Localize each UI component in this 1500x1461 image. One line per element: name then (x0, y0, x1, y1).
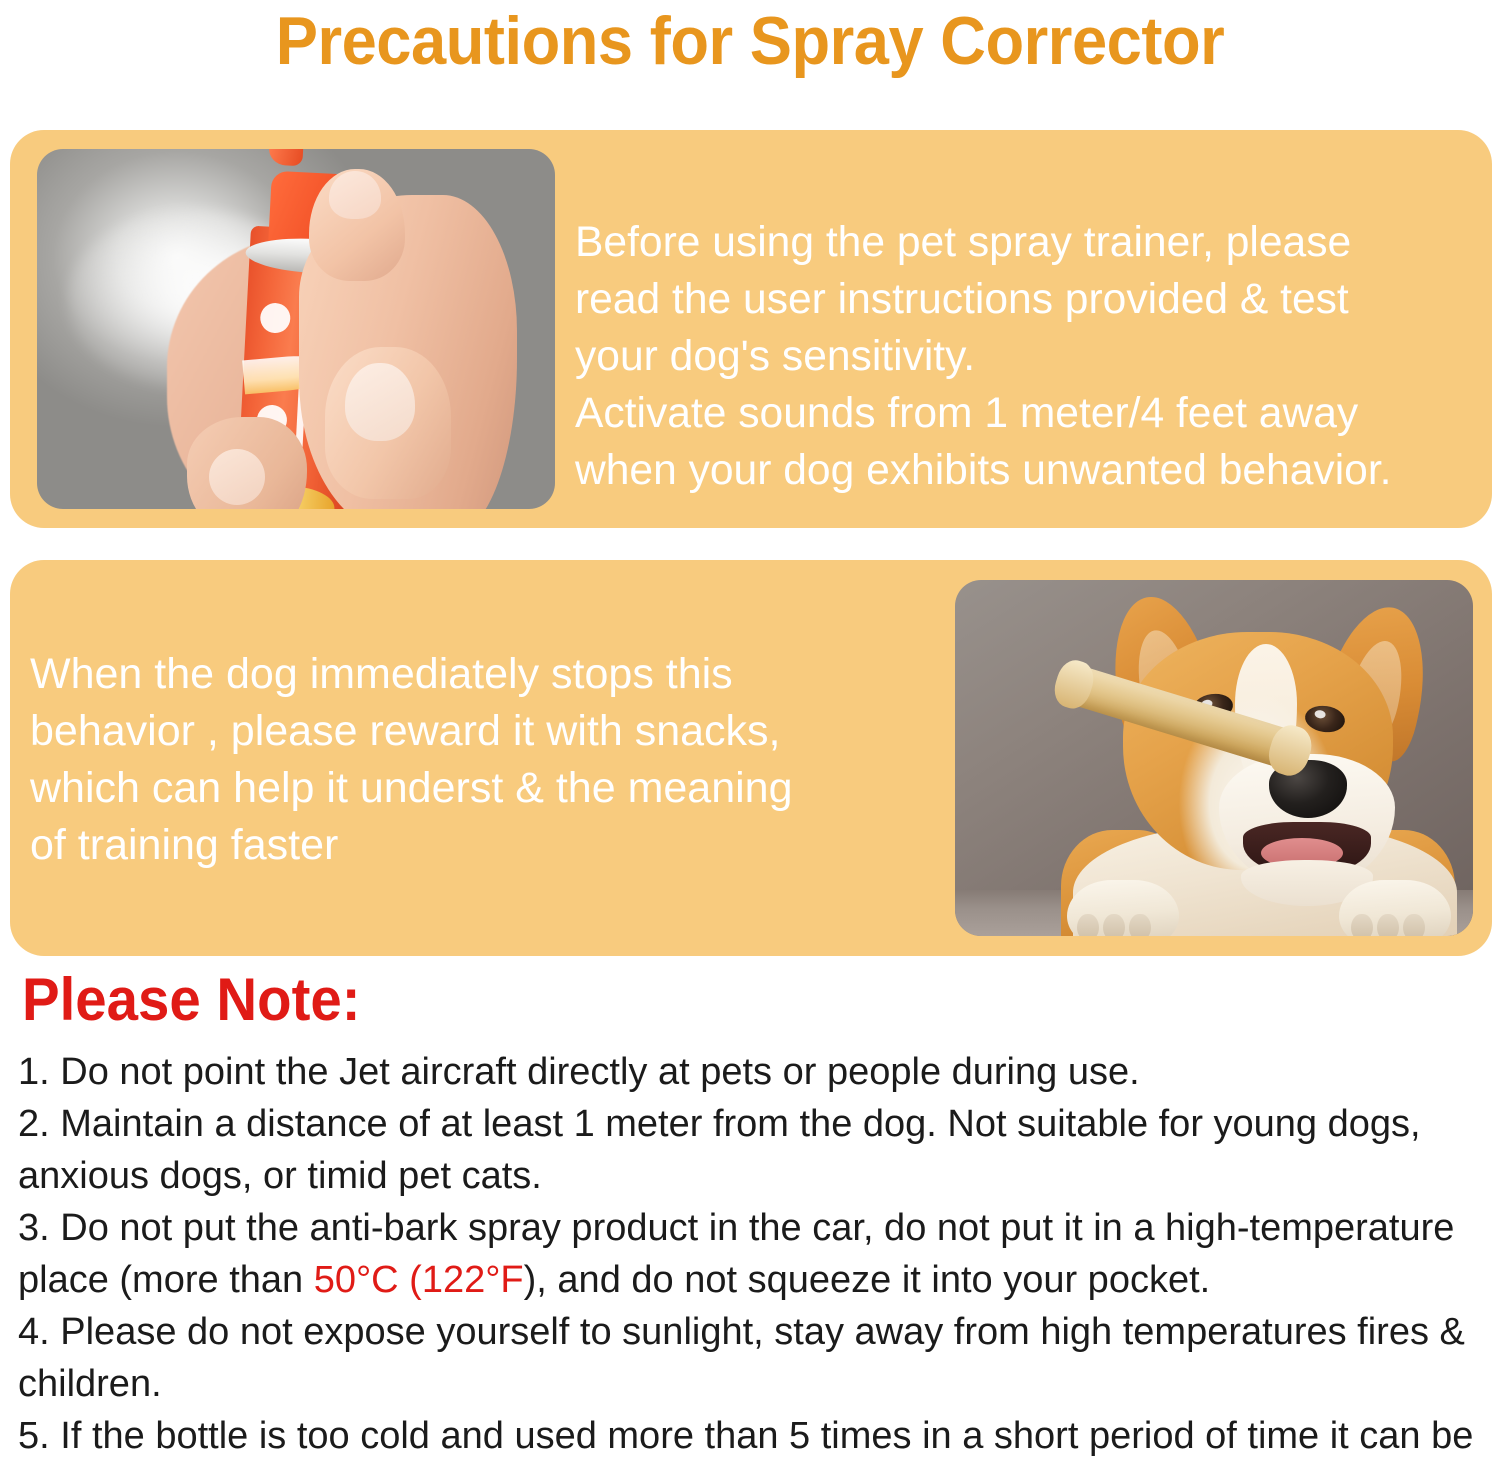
chew-stick-knot (1050, 656, 1098, 712)
note-item-5: 5. If the bottle is too cold and used mo… (18, 1410, 1488, 1461)
note-text: Please do not expose yourself to sunligh… (18, 1311, 1465, 1405)
panel-1-line: when your dog exhibits unwanted behavior… (575, 442, 1466, 499)
please-note-heading: Please Note: (22, 964, 361, 1036)
dog-toe (1403, 914, 1425, 936)
dog-paw-left (1067, 880, 1179, 936)
note-number: 4. (18, 1311, 50, 1353)
note-number: 2. (18, 1103, 50, 1145)
panel-1-line: read the user instructions provided & te… (575, 271, 1466, 328)
can-warning-icon (260, 302, 292, 334)
panel-1-line: Activate sounds from 1 meter/4 feet away (575, 385, 1466, 442)
panel-1-text: Before using the pet spray trainer, plea… (575, 214, 1466, 499)
instruction-panel-2: When the dog immediately stops this beha… (10, 560, 1492, 956)
spray-can-photo (37, 149, 555, 509)
note-text: If the bottle is too cold and used more … (18, 1415, 1473, 1461)
dog-toe (1103, 914, 1125, 936)
note-number: 1. (18, 1051, 50, 1093)
panel-2-line: which can help it underst & the meaning (30, 760, 930, 817)
panel-2-line: behavior , please reward it with snacks, (30, 703, 930, 760)
dog-toe (1377, 914, 1399, 936)
dog-eye-shine (1314, 710, 1326, 719)
panel-1-line: Before using the pet spray trainer, plea… (575, 214, 1466, 271)
note-item-1: 1. Do not point the Jet aircraft directl… (18, 1046, 1488, 1098)
instruction-panel-1: Before using the pet spray trainer, plea… (10, 130, 1492, 528)
lower-finger-nail (209, 449, 265, 505)
can-tip (268, 149, 304, 166)
infographic-page: Precautions for Spray Corrector (0, 0, 1500, 1461)
thumb-nail (329, 171, 381, 219)
dog-photo (955, 580, 1473, 936)
panel-2-text: When the dog immediately stops this beha… (30, 646, 930, 874)
page-title: Precautions for Spray Corrector (53, 2, 1448, 80)
note-item-2: 2. Maintain a distance of at least 1 met… (18, 1098, 1488, 1202)
dog-eye-right (1303, 703, 1346, 734)
dog-toe (1351, 914, 1373, 936)
dog-paw-right (1339, 880, 1451, 936)
dog-toe (1129, 914, 1151, 936)
panel-2-line: When the dog immediately stops this (30, 646, 930, 703)
panel-1-line: your dog's sensitivity. (575, 328, 1466, 385)
note-item-3: 3. Do not put the anti-bark spray produc… (18, 1202, 1488, 1306)
note-text: Do not point the Jet aircraft directly a… (60, 1051, 1139, 1093)
notes-list: 1. Do not point the Jet aircraft directl… (18, 1046, 1488, 1461)
dog-toe (1077, 914, 1099, 936)
panel-2-line: of training faster (30, 817, 930, 874)
note-text: Maintain a distance of at least 1 meter … (18, 1103, 1421, 1197)
index-finger-nail (345, 363, 415, 441)
note-text-after: ), and do not squeeze it into your pocke… (524, 1259, 1211, 1301)
note-item-4: 4. Please do not expose yourself to sunl… (18, 1306, 1488, 1410)
note-number: 3. (18, 1207, 50, 1249)
temperature-highlight: 50°C (122°F (314, 1259, 524, 1301)
note-number: 5. (18, 1415, 50, 1457)
